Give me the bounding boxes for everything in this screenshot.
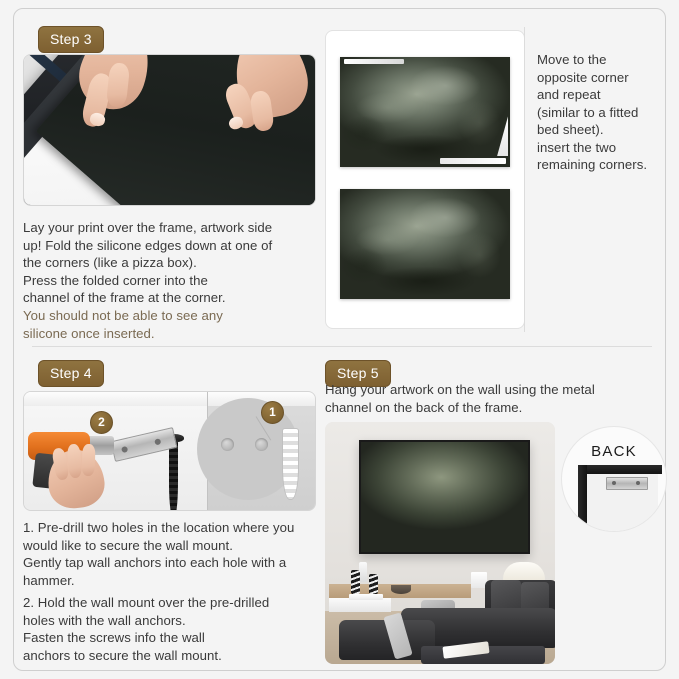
back-label: BACK	[562, 443, 666, 460]
step-5-room-scene	[325, 422, 555, 664]
step-5-instructions: Hang your artwork on the wall using the …	[325, 381, 655, 416]
step-3-photo	[23, 54, 316, 206]
lifted-edge-bottom	[440, 158, 506, 164]
channel-hole-right	[636, 481, 640, 485]
bracket-hole-left	[121, 446, 128, 453]
step-4-instruction-2: 2. Hold the wall mount over the pre-dril…	[23, 594, 328, 664]
book-stack	[349, 594, 383, 600]
candle-white	[359, 562, 367, 582]
artwork-mist-layer-b	[340, 57, 510, 167]
drilled-hole-left	[221, 438, 234, 451]
hung-artwork-canvas	[361, 442, 528, 552]
frame-back-left-edge	[578, 465, 587, 531]
artwork-with-lifted-corner	[340, 57, 510, 167]
vertical-divider	[524, 27, 525, 332]
callout-badge-2: 2	[90, 411, 113, 434]
artwork-fully-inserted	[340, 189, 510, 299]
artwork-comparison-board	[325, 30, 525, 329]
console-top-surface	[329, 598, 391, 612]
step-3-warning: You should not be able to see any silico…	[23, 307, 328, 342]
bracket-hole-right	[154, 438, 161, 445]
instruction-card: Step 3 Lay your print over the frame, ar…	[13, 8, 666, 671]
wall-anchor	[282, 428, 299, 500]
instruction-page: Step 3 Lay your print over the frame, ar…	[0, 0, 679, 679]
callout-badge-1: 1	[261, 401, 284, 424]
frame-back-top-edge	[578, 465, 662, 474]
step-3-badge: Step 3	[38, 26, 104, 53]
lamp-shade	[503, 562, 545, 582]
step-4-instruction-1: 1. Pre-drill two holes in the location w…	[23, 519, 328, 589]
metal-hanging-channel	[606, 477, 648, 490]
back-of-frame-inset: BACK	[562, 427, 666, 531]
drilled-hole-right	[255, 438, 268, 451]
step-4-illustration: 1 2	[23, 391, 316, 511]
step-3-instructions: Lay your print over the frame, artwork s…	[23, 219, 328, 307]
candle-patterned-1	[351, 570, 360, 594]
channel-hole-left	[612, 481, 616, 485]
candle-patterned-2	[369, 574, 378, 594]
decor-bowl	[391, 585, 411, 594]
step-4-badge: Step 4	[38, 360, 104, 387]
drill-hand-finger-3	[81, 444, 95, 476]
screw-shaft	[169, 440, 178, 511]
step-3-side-note: Move to the opposite corner and repeat (…	[537, 51, 667, 174]
section-divider	[32, 346, 652, 347]
hung-artwork-frame	[359, 440, 530, 554]
lifted-edge-top	[344, 59, 404, 64]
artwork-mist-layer-b	[340, 189, 510, 299]
